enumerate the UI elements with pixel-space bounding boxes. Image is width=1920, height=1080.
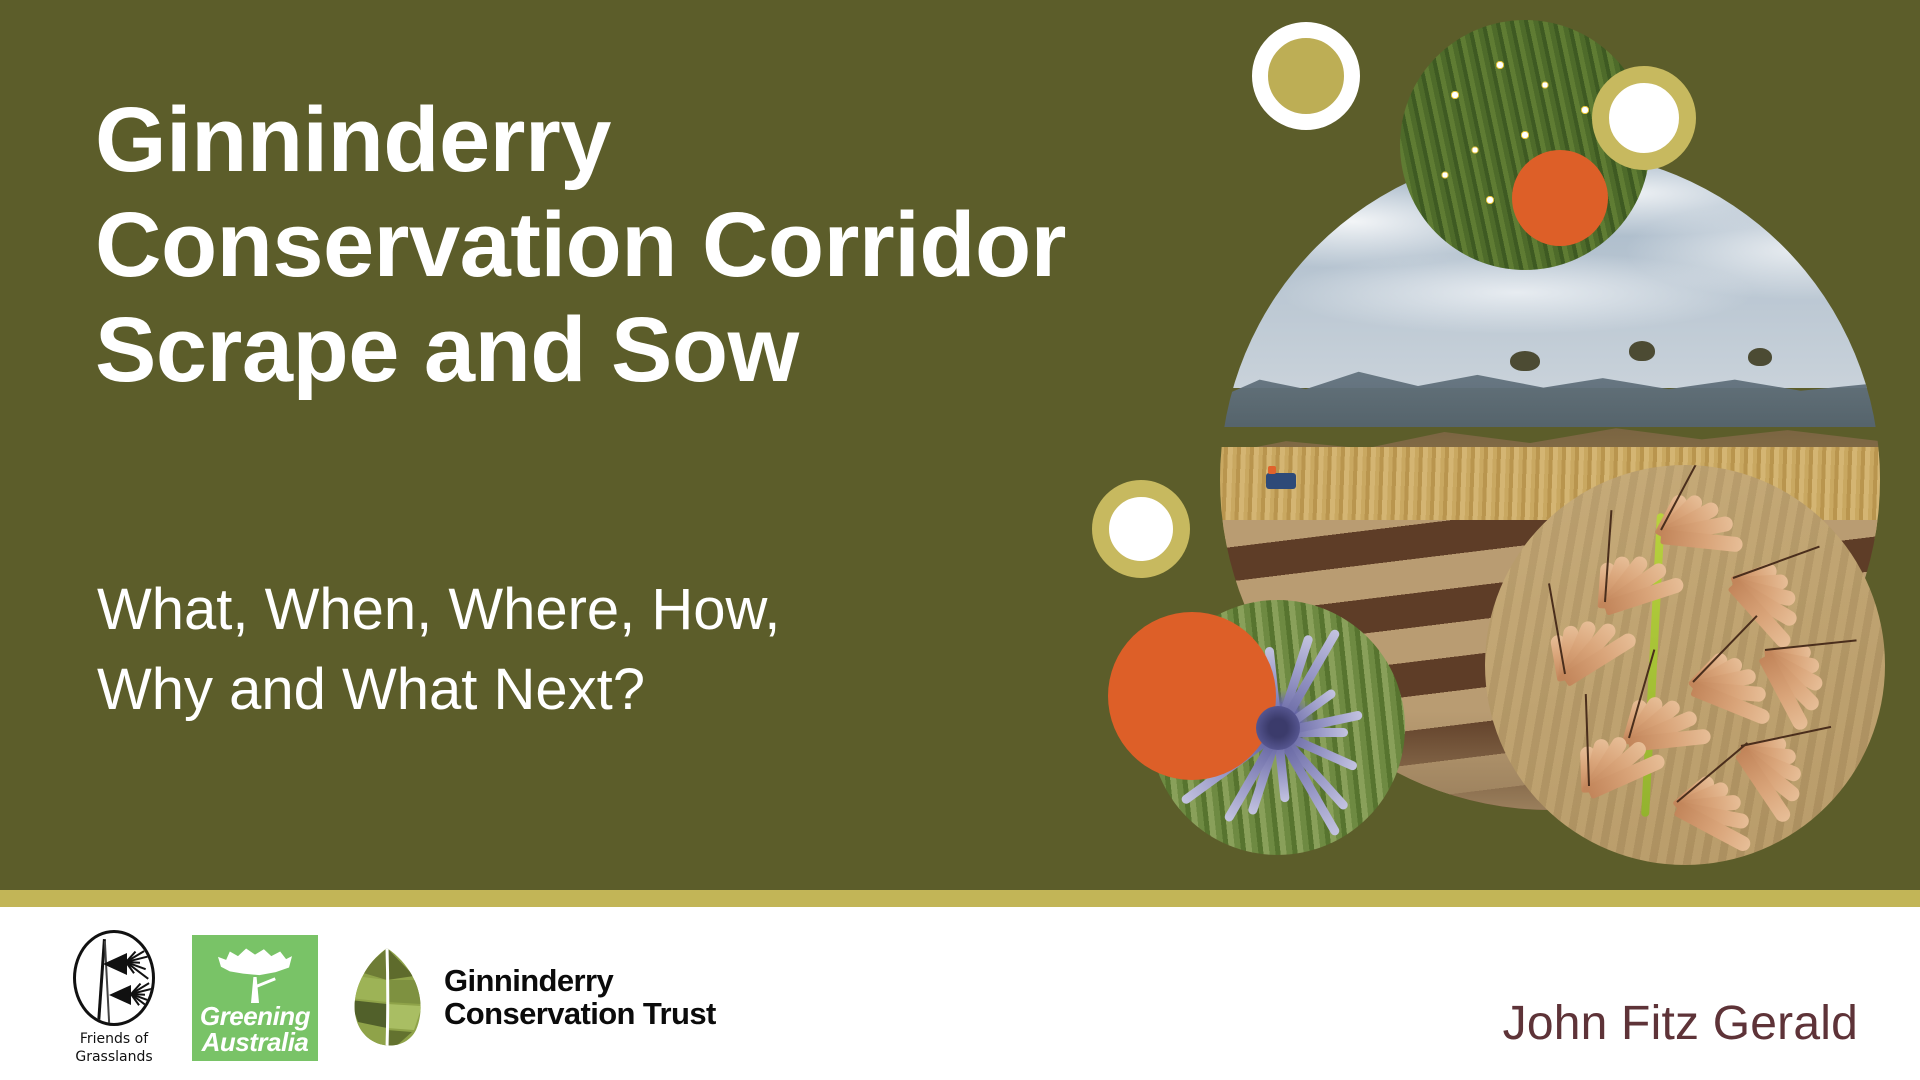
presentation-slide: Ginninderry Conservation Corridor Scrape… (0, 0, 1920, 1080)
ga-label-line-1: Greening (200, 1003, 310, 1029)
friends-of-grasslands-logo: Friends of Grasslands (62, 930, 166, 1066)
image-cluster (1140, 0, 1920, 980)
kangaroo-grass-photo (1485, 465, 1885, 865)
grass-seed-head (1660, 529, 1743, 552)
slide-subtitle-line-2: Why and What Next? (97, 650, 1057, 730)
author-name: John Fitz Gerald (1503, 996, 1858, 1051)
orange-disc-top (1512, 150, 1608, 246)
white-disc-gold-ring-top (1592, 66, 1696, 170)
gct-label-line-2: Conservation Trust (444, 998, 716, 1031)
slide-title-line-3: Scrape and Sow (95, 298, 1225, 403)
orange-disc-mid (1108, 612, 1276, 780)
tree-icon (1510, 351, 1540, 371)
slide-title-line-1: Ginninderry (95, 88, 1225, 193)
slide-subtitle: What, When, Where, How, Why and What Nex… (97, 570, 1057, 730)
tree-icon (1748, 348, 1772, 366)
fog-label-line-1: Friends of (75, 1031, 152, 1049)
friends-of-grasslands-label: Friends of Grasslands (75, 1031, 152, 1066)
slide-subtitle-line-1: What, When, Where, How, (97, 570, 1057, 650)
gold-disc-white-ring (1252, 22, 1360, 130)
trunk-shape (251, 977, 259, 1003)
grass-blade (104, 941, 110, 1023)
fog-label-line-2: Grasslands (75, 1049, 152, 1067)
slide-title-line-2: Conservation Corridor (95, 193, 1225, 298)
ginninderry-conservation-trust-wordmark: Ginninderry Conservation Trust (444, 965, 716, 1031)
greening-australia-logo: Greening Australia (192, 935, 318, 1061)
mosaic-leaf-icon (344, 946, 430, 1050)
partner-logos: Friends of Grasslands Greening Australia (62, 930, 716, 1066)
title-block: Ginninderry Conservation Corridor Scrape… (95, 88, 1225, 403)
white-disc-gold-ring-mid (1092, 480, 1190, 578)
ginninderry-conservation-trust-logo: Ginninderry Conservation Trust (344, 946, 716, 1050)
branch-shape (256, 977, 276, 987)
flower-core (1256, 706, 1300, 750)
grass-seedhead-oval-icon (73, 930, 155, 1026)
tree-icon (1629, 341, 1655, 361)
gct-label-line-1: Ginninderry (444, 965, 716, 998)
greening-australia-wordmark: Greening Australia (200, 1003, 310, 1055)
tractor-icon (1266, 473, 1296, 489)
seedhead-shape (109, 985, 131, 1005)
australia-tree-icon (218, 947, 292, 1003)
ga-label-line-2: Australia (200, 1029, 310, 1055)
